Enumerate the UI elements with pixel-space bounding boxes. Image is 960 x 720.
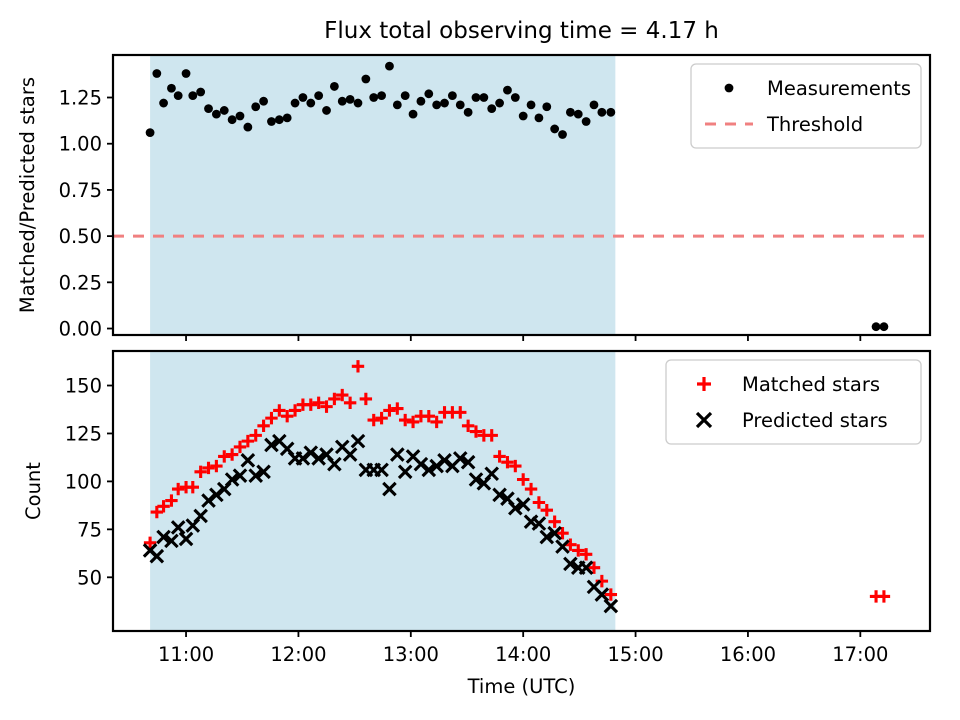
data-point <box>220 106 229 115</box>
data-point <box>401 91 410 100</box>
x-tick-label-4: 15:00 <box>607 643 663 666</box>
data-point <box>590 101 599 110</box>
x-tick-label-5: 16:00 <box>720 643 776 666</box>
data-point <box>204 104 213 113</box>
data-point <box>424 89 433 98</box>
data-point <box>251 102 260 111</box>
data-point <box>558 130 567 139</box>
data-point <box>159 99 168 108</box>
data-point <box>456 101 465 110</box>
data-point <box>479 93 488 102</box>
y-tick-label-bottom-4: 150 <box>65 375 102 398</box>
data-point <box>306 99 315 108</box>
data-point <box>314 91 323 100</box>
data-point <box>275 115 284 124</box>
data-point <box>236 112 245 121</box>
data-point <box>243 123 252 132</box>
data-point <box>393 101 402 110</box>
y-tick-label-bottom-2: 100 <box>65 470 102 493</box>
y-tick-label-bottom-0: 50 <box>77 566 102 589</box>
data-point <box>527 101 536 110</box>
data-point <box>417 97 426 106</box>
x-axis-label: Time (UTC) <box>467 675 576 698</box>
data-point <box>196 88 205 97</box>
legend-label-predicted-stars: Predicted stars <box>742 409 888 432</box>
data-point <box>267 117 276 126</box>
data-point <box>212 110 221 119</box>
data-point <box>291 99 300 108</box>
data-point <box>385 62 394 71</box>
data-point <box>377 91 386 100</box>
x-tick-label-2: 13:00 <box>383 643 439 666</box>
data-point <box>188 91 197 100</box>
data-point <box>495 99 504 108</box>
legend-label-matched-stars: Matched stars <box>742 373 880 396</box>
x-tick-label-0: 11:00 <box>158 643 214 666</box>
data-point <box>369 93 378 102</box>
data-point <box>283 113 292 122</box>
data-point <box>597 108 606 117</box>
data-point <box>535 113 544 122</box>
y-tick-label-top-4: 1.00 <box>59 133 102 156</box>
data-point <box>354 99 363 108</box>
x-tick-label-1: 12:00 <box>270 643 326 666</box>
data-point <box>511 93 520 102</box>
data-point <box>542 102 551 111</box>
data-point <box>338 97 347 106</box>
data-point <box>880 322 889 331</box>
matplotlib-figure: Flux total observing time = 4.17 h0.000.… <box>0 0 960 720</box>
legend-label-threshold: Threshold <box>766 113 863 136</box>
y-tick-label-bottom-1: 75 <box>77 518 102 541</box>
data-point <box>472 93 481 102</box>
x-tick-label-3: 14:00 <box>495 643 551 666</box>
data-point <box>606 108 615 117</box>
data-point <box>872 322 881 331</box>
data-point <box>519 112 528 121</box>
data-point <box>182 69 191 78</box>
figure-title: Flux total observing time = 4.17 h <box>324 18 719 44</box>
y-tick-label-top-1: 0.25 <box>59 271 102 294</box>
y-tick-label-top-0: 0.00 <box>59 318 102 341</box>
data-point <box>566 108 575 117</box>
x-tick-label-6: 17:00 <box>832 643 888 666</box>
data-point <box>878 590 890 602</box>
data-point <box>550 125 559 134</box>
data-point <box>228 115 237 124</box>
y-tick-label-top-2: 0.50 <box>59 225 102 248</box>
data-point <box>174 91 183 100</box>
data-point <box>409 110 418 119</box>
legend-label-measurements: Measurements <box>767 77 911 100</box>
legend-marker-measurements <box>725 84 734 93</box>
data-point <box>440 99 449 108</box>
data-point <box>152 69 161 78</box>
y-tick-label-bottom-3: 125 <box>65 422 102 445</box>
data-point <box>487 104 496 113</box>
data-point <box>346 95 355 104</box>
data-point <box>361 75 370 84</box>
data-point <box>330 82 339 91</box>
y-axis-label-top: Matched/Predicted stars <box>16 77 39 313</box>
y-tick-label-top-5: 1.25 <box>59 87 102 110</box>
figure-canvas: Flux total observing time = 4.17 h0.000.… <box>0 0 960 720</box>
data-point <box>299 93 308 102</box>
data-point <box>259 97 268 106</box>
data-point <box>146 128 155 137</box>
y-axis-label-bottom: Count <box>22 462 45 520</box>
data-point <box>322 106 331 115</box>
data-point <box>582 117 591 126</box>
data-point <box>432 101 441 110</box>
data-point <box>464 108 473 117</box>
data-point <box>448 91 457 100</box>
data-point <box>167 84 176 93</box>
data-point <box>503 86 512 95</box>
data-point <box>574 110 583 119</box>
y-tick-label-top-3: 0.75 <box>59 179 102 202</box>
